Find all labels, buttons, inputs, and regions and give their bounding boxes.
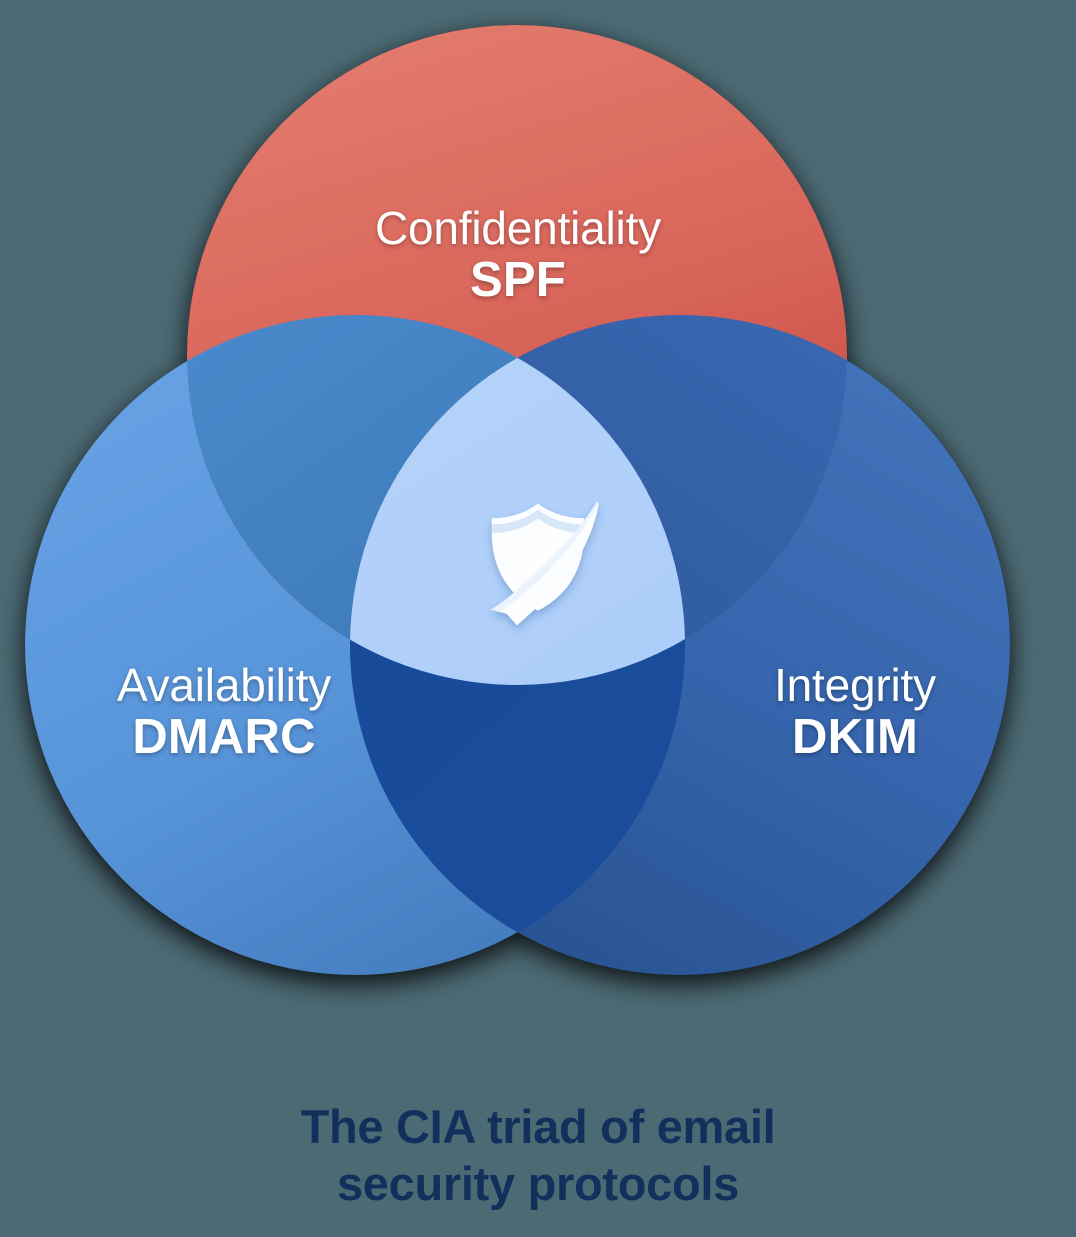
venn-diagram-stage: Confidentiality SPF Availability DMARC I… xyxy=(0,0,1076,1237)
venn-circles-svg xyxy=(0,0,1076,1060)
diagram-caption: The CIA triad of email security protocol… xyxy=(0,1098,1076,1213)
caption-line-2: security protocols xyxy=(0,1155,1076,1212)
caption-line-1: The CIA triad of email xyxy=(0,1098,1076,1155)
